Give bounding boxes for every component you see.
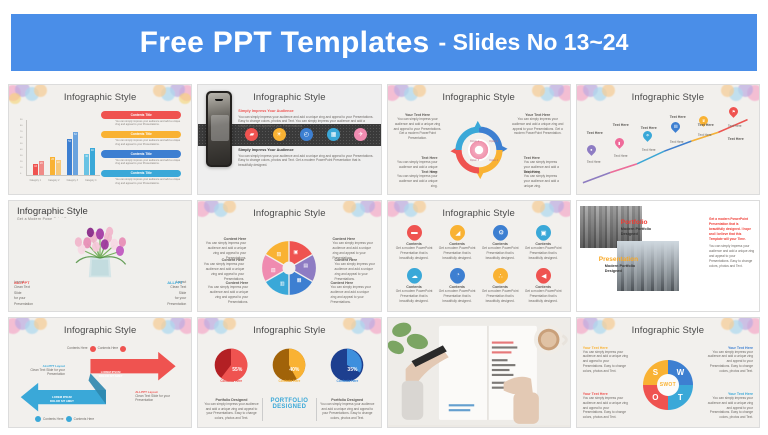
icon-cell[interactable]: ◀ Contents Get a modern PowerPoint Prese… (523, 268, 564, 309)
svg-text:▧: ▧ (271, 268, 276, 274)
arrow-shapes (13, 340, 187, 423)
footer-col: Portfolio Designed You can simply impres… (204, 398, 258, 421)
camera-icon[interactable]: ▣ (533, 222, 554, 243)
callout-text: You can simply impress your audience and… (331, 285, 373, 304)
slide-thumbnail-grid: Infographic Style 90 80 70 60 50 40 30 2… (8, 84, 760, 428)
col-text: You can simply impress your audience and… (204, 402, 258, 421)
brand-label: ALLPPT (167, 280, 183, 285)
bar: 16 (33, 164, 38, 175)
pie-value-label: 40% (277, 367, 311, 373)
banner-subtitle: - Slides No 13~24 (439, 29, 629, 56)
milestone-heading: Text Here (582, 131, 608, 135)
slide-body: ● Text Here Text Here ▮ Text Here Text H… (581, 107, 755, 190)
slide-thumbnail-12[interactable]: Infographic Style S W O T SWOT (576, 317, 760, 428)
big-label: PORTFOLIO (263, 398, 315, 404)
callout-text: You can simply impress your audience and… (394, 117, 442, 141)
callout: Your Text Here You can simply impress yo… (583, 392, 629, 420)
callout-text: You can simply impress your audience and… (394, 174, 438, 188)
milestone-label: Text Here (723, 124, 747, 129)
left-text-block: ALLPPT Layout Clean Text Slide for your … (14, 280, 33, 308)
map-pin-icon[interactable]: ▮ (615, 138, 624, 150)
presentation-sub: Designed (605, 269, 622, 273)
map-pin-icon[interactable]: ● (587, 145, 596, 157)
slide-thumbnail-10[interactable]: Infographic Style 55% Contents Here (197, 317, 381, 428)
pie-chart-1 (214, 348, 248, 382)
pie-footer-row: Portfolio Designed You can simply impres… (204, 398, 374, 421)
slide-title: Infographic Style (9, 92, 191, 103)
icon-cell[interactable]: ◢ Contents Get a modern PowerPoint Prese… (437, 225, 478, 266)
bar: 40 (90, 148, 95, 175)
caption: Clean Text Slide for your Presentation (15, 368, 65, 378)
map-pin-icon[interactable]: ☂ (643, 131, 652, 143)
x-tick: Category 1 (30, 180, 41, 182)
slide-title: Infographic Style (388, 208, 570, 219)
cycle-label: Option 2 (489, 140, 498, 143)
share-icon[interactable]: ∴ (490, 265, 511, 286)
slide-body: LOREM IPSUM DOLOR SIT AMET LOREM IPSUM D… (13, 340, 187, 423)
cloud-icon[interactable]: ☁ (403, 265, 424, 286)
callout-text: You can simply impress your audience and… (206, 285, 248, 304)
callout: Content Here You can simply impress your… (206, 281, 248, 304)
slide-body: S W O T SWOT Your Text Here You can simp… (581, 340, 755, 423)
red-arrow-label: LOREM IPSUM DOLOR SIT AMET (90, 370, 132, 378)
speech-bubble-icon[interactable]: ▬ (403, 222, 424, 243)
bar-group: 52 63 (67, 132, 78, 175)
legend-text: You can simply impress your audience and… (101, 120, 181, 128)
gear-icon[interactable]: ⚙ (490, 222, 511, 243)
bar-group: 30 40 (84, 148, 95, 175)
milestone-heading: Text Here (663, 115, 693, 119)
milestone-label: Text Here (582, 160, 606, 165)
swot-letter: O (652, 393, 658, 402)
legend-pill[interactable]: Contents Title (101, 111, 181, 119)
chip-label: Contents Here (43, 417, 64, 422)
swot-letter: T (678, 393, 683, 402)
callout: Your Text Here You can simply impress yo… (583, 346, 629, 374)
milestone-label: Text Here (637, 148, 661, 153)
callout: Text Here You can simply impress your au… (524, 170, 564, 188)
callout: Content Here You can simply impress your… (202, 258, 244, 281)
presentation-heading: Presentation (599, 256, 638, 263)
footer-col: PORTFOLIO DESIGNED (262, 398, 316, 421)
callout: Content Here You can simply impress your… (335, 258, 377, 281)
chip-dot-icon[interactable] (35, 416, 41, 422)
callout: Content Here You can simply impress your… (333, 237, 375, 260)
x-tick: Category 2 (48, 180, 59, 182)
y-tick: 50 (20, 143, 22, 145)
slide-body: ▣▤▦ ▥▧▨ Content Here You can simply impr… (202, 223, 376, 306)
svg-text:▣: ▣ (294, 250, 299, 256)
item-text: Get a modern PowerPoint Presentation tha… (394, 246, 435, 260)
svg-text:▥: ▥ (280, 281, 285, 287)
bar: 63 (73, 132, 78, 175)
slide-thumbnail-3[interactable]: Infographic Style Option 1 Option 2 Opti… (387, 84, 571, 195)
bar-group: 16 20 (33, 161, 44, 175)
caption: Clean Text Slide for your Presentation (135, 394, 185, 404)
swot-letter: S (653, 368, 658, 377)
y-tick: 0 (20, 173, 21, 175)
callout-text: You can simply impress your audience and… (335, 262, 377, 281)
chip-dot-icon[interactable] (66, 416, 72, 422)
slide-title: Infographic Style (9, 325, 191, 336)
section-heading: Simply Impress Your Audience (238, 109, 374, 113)
callout: Your Text Here You can simply impress yo… (394, 113, 442, 141)
rocket-icon[interactable]: ✈ (354, 128, 367, 141)
callout: Your Text Here You can simply impress yo… (707, 346, 753, 374)
slide-title: Infographic Style (577, 325, 759, 336)
item-text: Get a modern PowerPoint Presentation tha… (437, 289, 478, 303)
slide-thumbnail-11[interactable] (387, 317, 571, 428)
swot-center-label: SWOT (660, 382, 676, 388)
callout: Your Text Here You can simply impress yo… (512, 113, 564, 136)
icon-cell[interactable]: ⚙ Contents Get a modern PowerPoint Prese… (480, 225, 521, 266)
section-heading: Simply Impress Your Audience (238, 148, 374, 152)
text-line: Presentation (167, 302, 186, 308)
chip-label: Contents Here (98, 346, 119, 351)
callout-text: You can simply impress your audience and… (707, 396, 753, 420)
headline-block: Simply Impress Your Audience You can sim… (238, 109, 374, 129)
callout: Text Here You can simply impress your au… (394, 170, 438, 188)
y-tick: 10 (20, 167, 22, 169)
slide-title: Infographic Style (198, 325, 380, 336)
legend-text: You can simply impress your audience and… (101, 139, 181, 147)
item-text: Get a modern PowerPoint Presentation tha… (480, 289, 521, 303)
slide-thumbnail-7[interactable]: Infographic Style ▬ Contents Get a moder… (387, 200, 571, 311)
legend-pill[interactable]: Contents Title (101, 131, 181, 139)
slide-body: 90 80 70 60 50 40 30 20 10 0 16 20 26 (13, 107, 187, 190)
pie-chart-3 (330, 348, 364, 382)
callout-text: You can simply impress your audience and… (583, 350, 629, 374)
svg-text:▨: ▨ (277, 252, 282, 258)
icon-cell[interactable]: ▣ Contents Get a modern PowerPoint Prese… (523, 225, 564, 266)
swot-center-hub: SWOT (657, 374, 679, 396)
callout: Content Here You can simply impress your… (204, 237, 246, 260)
bar-chart-axes: 90 80 70 60 50 40 30 20 10 0 16 20 26 (26, 120, 100, 176)
top-chip-group: Contents Here Contents Here (67, 346, 126, 352)
slide-thumbnail-8[interactable]: Portfolio Modern Portfolio Designed Pres… (576, 200, 760, 311)
item-text: Get a modern PowerPoint Presentation tha… (437, 246, 478, 260)
icon-cell[interactable]: ☁ Contents Get a modern PowerPoint Prese… (394, 268, 435, 309)
bar: 26 (50, 157, 55, 175)
presentation-sub: Modern Portfolio (605, 264, 635, 268)
slide-body: Option 1 Option 2 Option 3 Option 4 Your… (392, 107, 566, 190)
pie-chart-2 (272, 348, 306, 382)
milestone-heading: Text Here (607, 123, 635, 127)
bar-group: 26 22 (50, 157, 61, 175)
blue-arrow-label: LOREM IPSUM DOLOR SIT AMET (41, 395, 83, 403)
pie-value-label: 55% (220, 367, 254, 373)
footer-col: Portfolio Designed You can simply impres… (320, 398, 374, 421)
item-text: Get a modern PowerPoint Presentation tha… (480, 246, 521, 260)
icon-grid: ▬ Contents Get a modern PowerPoint Prese… (394, 225, 564, 308)
callout: Your Text Here You can simply impress yo… (707, 392, 753, 420)
milestone-label: Text Here (609, 154, 633, 159)
callout-text: You can simply impress your audience and… (512, 117, 564, 136)
side-text: You can simply impress your audience and… (709, 244, 755, 268)
left-caption-block: ALLPPT Layout Clean Text Slide for your … (15, 364, 65, 378)
wheel-hub (283, 262, 296, 275)
slide-thumbnail-5[interactable]: Infographic Style Get a Modern PowerPoin… (8, 200, 192, 311)
slide-body: 55% Contents Here 40% Contents Here (202, 340, 376, 423)
svg-text:▤: ▤ (304, 263, 309, 269)
col-text: You can simply impress your audience and… (320, 402, 374, 421)
icon-row: ▰ ☀ ◴ ▦ ✈ (238, 128, 374, 141)
slide-thumbnail-6[interactable]: Infographic Style ▣▤▦ ▥▧▨ (197, 200, 381, 311)
brand-label: ALLPPT (14, 280, 30, 285)
legend-text: You can simply impress your audience and… (101, 159, 181, 167)
header-banner: Free PPT Templates - Slides No 13~24 (11, 14, 757, 71)
item-text: Get a modern PowerPoint Presentation tha… (523, 246, 564, 260)
icon-cell[interactable]: ∴ Contents Get a modern PowerPoint Prese… (480, 268, 521, 309)
portfolio-heading: Portfolio (621, 219, 648, 226)
y-tick: 60 (20, 137, 22, 139)
portfolio-sub: Designed (621, 232, 638, 236)
big-label: DESIGNED (263, 404, 315, 410)
callout-text: You can simply impress your audience and… (524, 174, 564, 188)
cycle-label: Option 4 (489, 159, 498, 162)
chip-dot-icon[interactable] (90, 346, 96, 352)
y-tick: 80 (20, 125, 22, 127)
pie-block: 35% Contents Here (330, 348, 364, 383)
tulip-bouquet-photo (52, 217, 148, 283)
cycle-label: Option 1 (470, 140, 479, 143)
map-pin-icon[interactable]: ⚑ (729, 107, 738, 119)
chip-dot-icon[interactable] (120, 346, 126, 352)
icon-cell[interactable]: ◔ Contents Get a modern PowerPoint Prese… (437, 268, 478, 309)
x-axis-labels: Category 1 Category 2 Category 3 Categor… (26, 180, 100, 182)
phone-mockup (206, 91, 232, 167)
roadmap-path (581, 107, 755, 190)
speaker-icon[interactable]: ◀ (533, 265, 554, 286)
pie-value-label: 35% (335, 367, 369, 373)
slide-thumbnail-9[interactable]: Infographic Style LOREM IPSUM DOLOR SIT … (8, 317, 192, 428)
body-text: You can simply impress your audience and… (238, 115, 374, 129)
chip-label: Contents Here (74, 417, 95, 422)
pie-row: 55% Contents Here 40% Contents Here (202, 348, 376, 383)
chart-icon[interactable]: ◴ (300, 128, 313, 141)
callout: Content Here You can simply impress your… (331, 281, 373, 304)
bar: 22 (56, 160, 61, 175)
hands-writing-notebook-photo (388, 318, 570, 426)
map-pin-icon[interactable]: ▤ (671, 122, 680, 134)
pie-block: 40% Contents Here (272, 348, 306, 383)
milestone-heading: Text Here (691, 123, 721, 127)
swot-letter: W (677, 368, 685, 377)
y-tick: 20 (20, 161, 22, 163)
bar-series-group: 16 20 26 22 52 63 30 40 (30, 120, 98, 175)
x-tick: Category 3 (67, 180, 78, 182)
legend-text: You can simply impress your audience and… (101, 178, 181, 186)
side-heading: Get a modern PowerPoint Presentation tha… (709, 217, 755, 241)
lightbulb-icon[interactable]: ☀ (273, 128, 286, 141)
text-line: Clean Text (167, 285, 186, 291)
banner-title: Free PPT Templates (140, 26, 430, 60)
calendar-icon[interactable]: ▦ (327, 128, 340, 141)
callout-text: You can simply impress your audience and… (583, 396, 629, 420)
cycle-label: Option 3 (470, 159, 479, 162)
milestone-label: Text Here (665, 140, 689, 145)
item-text: Get a modern PowerPoint Presentation tha… (523, 289, 564, 303)
slide-thumbnail-1[interactable]: Infographic Style 90 80 70 60 50 40 30 2… (8, 84, 192, 195)
legend-pill[interactable]: Contents Title (101, 150, 181, 158)
milestone-heading: Text Here (635, 126, 663, 130)
briefcase-icon[interactable]: ▰ (245, 128, 258, 141)
callout-text: You can simply impress your audience and… (202, 262, 244, 281)
icon-cell[interactable]: ▬ Contents Get a modern PowerPoint Prese… (394, 225, 435, 266)
bottom-chip-group: Contents Here Contents Here (35, 416, 94, 422)
pie-block: 55% Contents Here (214, 348, 248, 383)
legend-pill-list: Contents Title You can simply impress yo… (101, 111, 181, 189)
megaphone-icon[interactable]: ◢ (446, 222, 467, 243)
slide-thumbnail-4[interactable]: Infographic Style ● Text Here Text Here … (576, 84, 760, 195)
portfolio-sub: Modern Portfolio (621, 227, 651, 231)
bar: 20 (39, 161, 44, 175)
svg-text:▦: ▦ (297, 278, 302, 284)
compass-icon[interactable]: ◔ (446, 265, 467, 286)
right-text-block: ALLPPT Layout Clean Text Slide for your … (167, 280, 186, 308)
text-line: Presentation (14, 302, 33, 308)
side-text-block: Get a modern PowerPoint Presentation tha… (709, 217, 755, 268)
right-caption-block: ALLPPT Layout Clean Text Slide for your … (135, 390, 185, 404)
x-tick: Category 4 (85, 180, 96, 182)
slide-title: Infographic Style (388, 92, 570, 103)
callout-text: You can simply impress your audience and… (707, 350, 753, 374)
milestone-label: Text Here (693, 133, 717, 138)
slide-title: Infographic Style (17, 206, 88, 217)
y-tick: 30 (20, 155, 22, 157)
slide-title: Infographic Style (198, 208, 380, 219)
milestone-heading: Text Here (719, 137, 753, 141)
slide-thumbnail-2[interactable]: Infographic Style Simply Impress Your Au… (197, 84, 381, 195)
y-tick: 40 (20, 149, 22, 151)
chip-label: Contents Here (67, 346, 88, 351)
slide-title: Infographic Style (577, 92, 759, 103)
y-tick: 90 (20, 119, 22, 121)
legend-pill[interactable]: Contents Title (101, 170, 181, 178)
footer-block: Simply Impress Your Audience You can sim… (238, 148, 374, 168)
item-text: Get a modern PowerPoint Presentation tha… (394, 289, 435, 303)
bar: 30 (84, 154, 89, 175)
bar: 52 (67, 139, 72, 175)
phone-screen-photo (208, 93, 230, 165)
body-text: You can simply impress your audience and… (238, 154, 374, 168)
y-tick: 70 (20, 131, 22, 133)
